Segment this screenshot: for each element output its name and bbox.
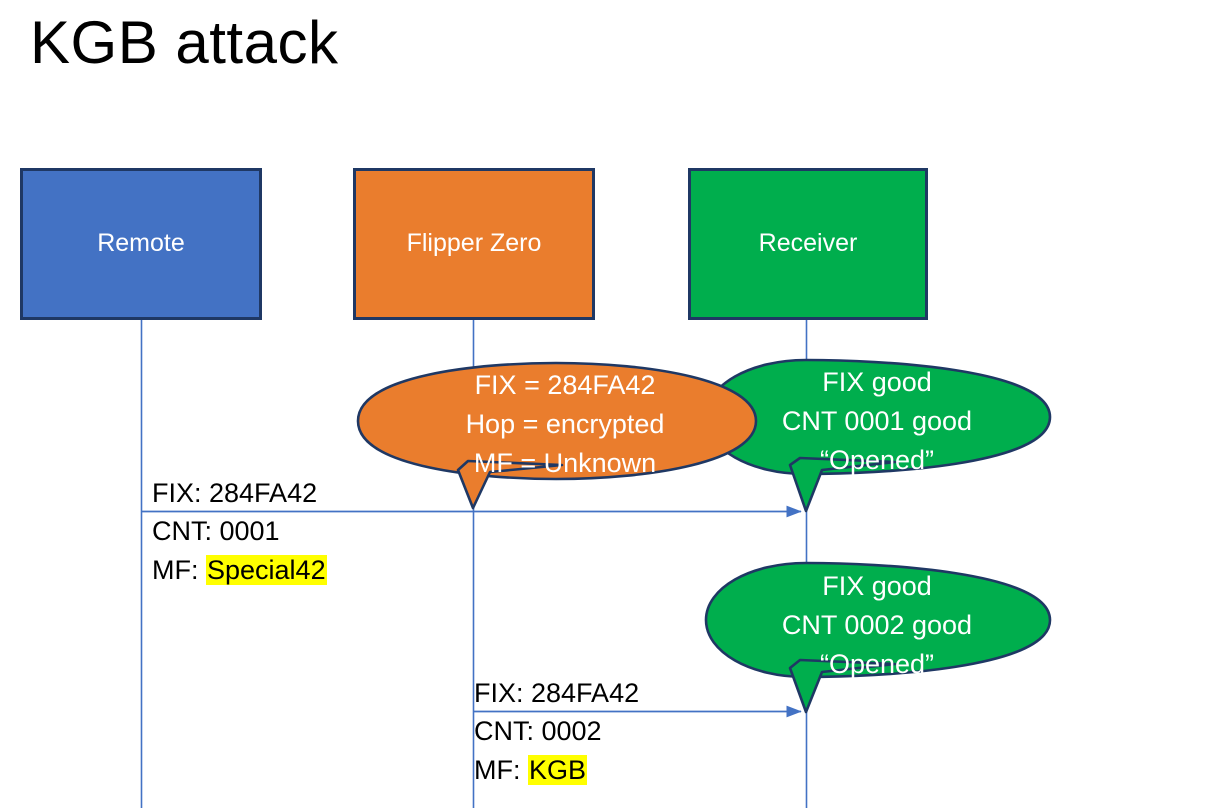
callout-flipper-line-1: FIX = 284FA42 <box>430 366 700 405</box>
message-label-1: FIX: 284FA42 CNT: 0001 MF: Special42 <box>152 474 327 589</box>
message-1-mf-prefix: MF: <box>152 555 206 585</box>
message-2-cnt: CNT: 0002 <box>474 712 639 750</box>
callout-flipper-line-3: MF = Unknown <box>430 444 700 483</box>
message-2-mf: MF: KGB <box>474 751 639 789</box>
message-1-mf-highlight: Special42 <box>206 555 327 585</box>
callout-receiver-1-line-3: “Opened” <box>742 441 1012 480</box>
callout-receiver-2-line-2: CNT 0002 good <box>742 606 1012 645</box>
message-1-fix: FIX: 284FA42 <box>152 474 327 512</box>
callout-receiver-1-line-1: FIX good <box>742 363 1012 402</box>
actor-box-remote[interactable]: Remote <box>20 168 262 320</box>
callout-receiver-2-text: FIX good CNT 0002 good “Opened” <box>742 567 1012 684</box>
message-2-fix: FIX: 284FA42 <box>474 674 639 712</box>
actor-label-flipper-zero: Flipper Zero <box>407 230 542 258</box>
callout-flipper-line-2: Hop = encrypted <box>430 405 700 444</box>
callout-receiver-2-line-3: “Opened” <box>742 645 1012 684</box>
message-1-cnt: CNT: 0001 <box>152 512 327 550</box>
actor-box-flipper-zero[interactable]: Flipper Zero <box>353 168 595 320</box>
callout-receiver-1-text: FIX good CNT 0001 good “Opened” <box>742 363 1012 480</box>
callout-receiver-1-line-2: CNT 0001 good <box>742 402 1012 441</box>
callout-receiver-2-line-1: FIX good <box>742 567 1012 606</box>
message-2-mf-prefix: MF: <box>474 755 528 785</box>
slide-canvas: KGB attack Re <box>0 0 1218 808</box>
message-label-2: FIX: 284FA42 CNT: 0002 MF: KGB <box>474 674 639 789</box>
actor-label-remote: Remote <box>97 230 185 258</box>
actor-box-receiver[interactable]: Receiver <box>688 168 928 320</box>
message-2-mf-highlight: KGB <box>528 755 587 785</box>
actor-label-receiver: Receiver <box>759 230 858 258</box>
message-1-mf: MF: Special42 <box>152 551 327 589</box>
callout-flipper-text: FIX = 284FA42 Hop = encrypted MF = Unkno… <box>430 366 700 483</box>
